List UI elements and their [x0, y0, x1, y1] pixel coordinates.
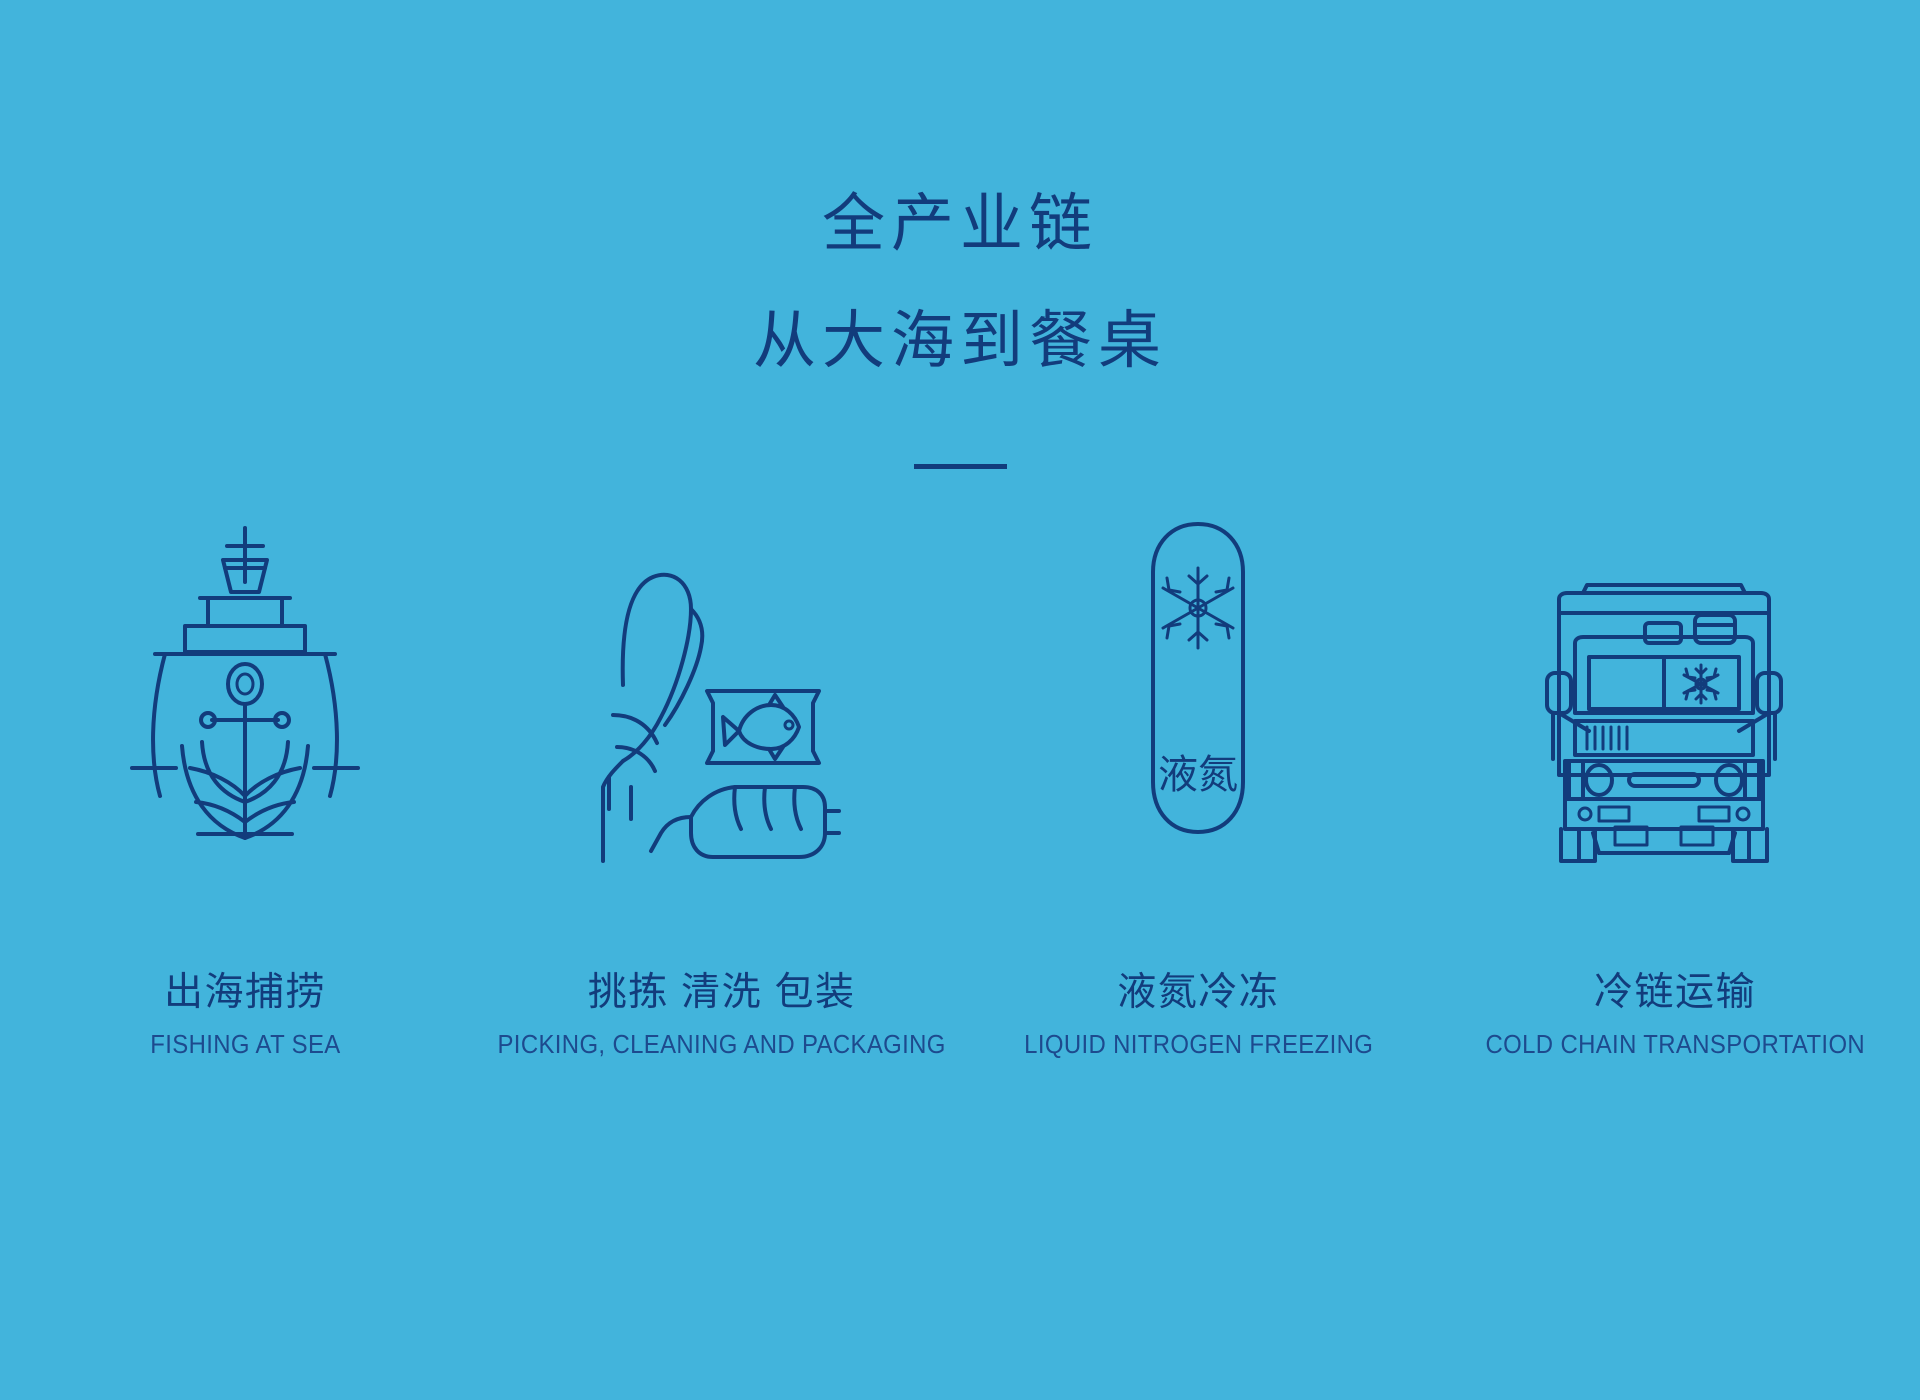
step-label-cn: 挑拣 清洗 包装	[478, 972, 965, 1015]
step-label-en: PICKING, CLEANING AND PACKAGING	[498, 1030, 946, 1059]
step-label-cn: 冷链运输	[1469, 972, 1882, 1015]
step-labels: 挑拣 清洗 包装 PICKING, CLEANING AND PACKAGING	[478, 972, 965, 1058]
heading-line-2: 从大海到餐桌	[0, 295, 1920, 386]
process-steps: 出海捕捞 FISHING AT SEA	[0, 520, 1920, 1058]
page-heading: 全产业链 从大海到餐桌	[0, 178, 1920, 387]
step-label-en: LIQUID NITROGEN FREEZING	[1024, 1030, 1373, 1059]
step-picking-cleaning-packaging[interactable]: 挑拣 清洗 包装 PICKING, CLEANING AND PACKAGING	[487, 520, 957, 1058]
refrigerated-truck-icon	[1545, 565, 1805, 865]
snowflake-icon	[1163, 568, 1233, 648]
hands-with-packaged-fish-icon	[587, 565, 857, 865]
tank-label: 液氮	[1158, 753, 1238, 797]
fishing-boat-with-anchor-icon	[130, 520, 360, 840]
step-cold-chain-transportation[interactable]: 冷链运输 COLD CHAIN TRANSPORTATION	[1440, 520, 1910, 1058]
nitrogen-tank-icon: 液氮	[1133, 520, 1263, 850]
step-label-en: FISHING AT SEA	[150, 1030, 340, 1059]
step-labels: 出海捕捞 FISHING AT SEA	[142, 972, 349, 1058]
infographic-page: 全产业链 从大海到餐桌	[0, 0, 1920, 1400]
heading-divider	[914, 464, 1007, 469]
step-label-cn: 出海捕捞	[142, 972, 349, 1015]
step-labels: 液氮冷冻 LIQUID NITROGEN FREEZING	[1009, 972, 1388, 1058]
step-liquid-nitrogen-freezing[interactable]: 液氮 液氮冷冻 LIQUID NITROGEN FREEZING	[963, 520, 1433, 1058]
icon-container	[1545, 520, 1805, 910]
icon-container: 液氮	[1133, 520, 1263, 910]
heading-divider-wrapper	[0, 456, 1920, 474]
snowflake-icon	[1684, 665, 1718, 703]
icon-container	[587, 520, 857, 910]
icon-container	[130, 520, 360, 910]
step-fishing-at-sea[interactable]: 出海捕捞 FISHING AT SEA	[10, 520, 480, 1058]
step-label-en: COLD CHAIN TRANSPORTATION	[1485, 1030, 1865, 1059]
step-label-cn: 液氮冷冻	[1009, 972, 1388, 1015]
heading-line-1: 全产业链	[0, 178, 1920, 269]
step-labels: 冷链运输 COLD CHAIN TRANSPORTATION	[1469, 972, 1882, 1058]
